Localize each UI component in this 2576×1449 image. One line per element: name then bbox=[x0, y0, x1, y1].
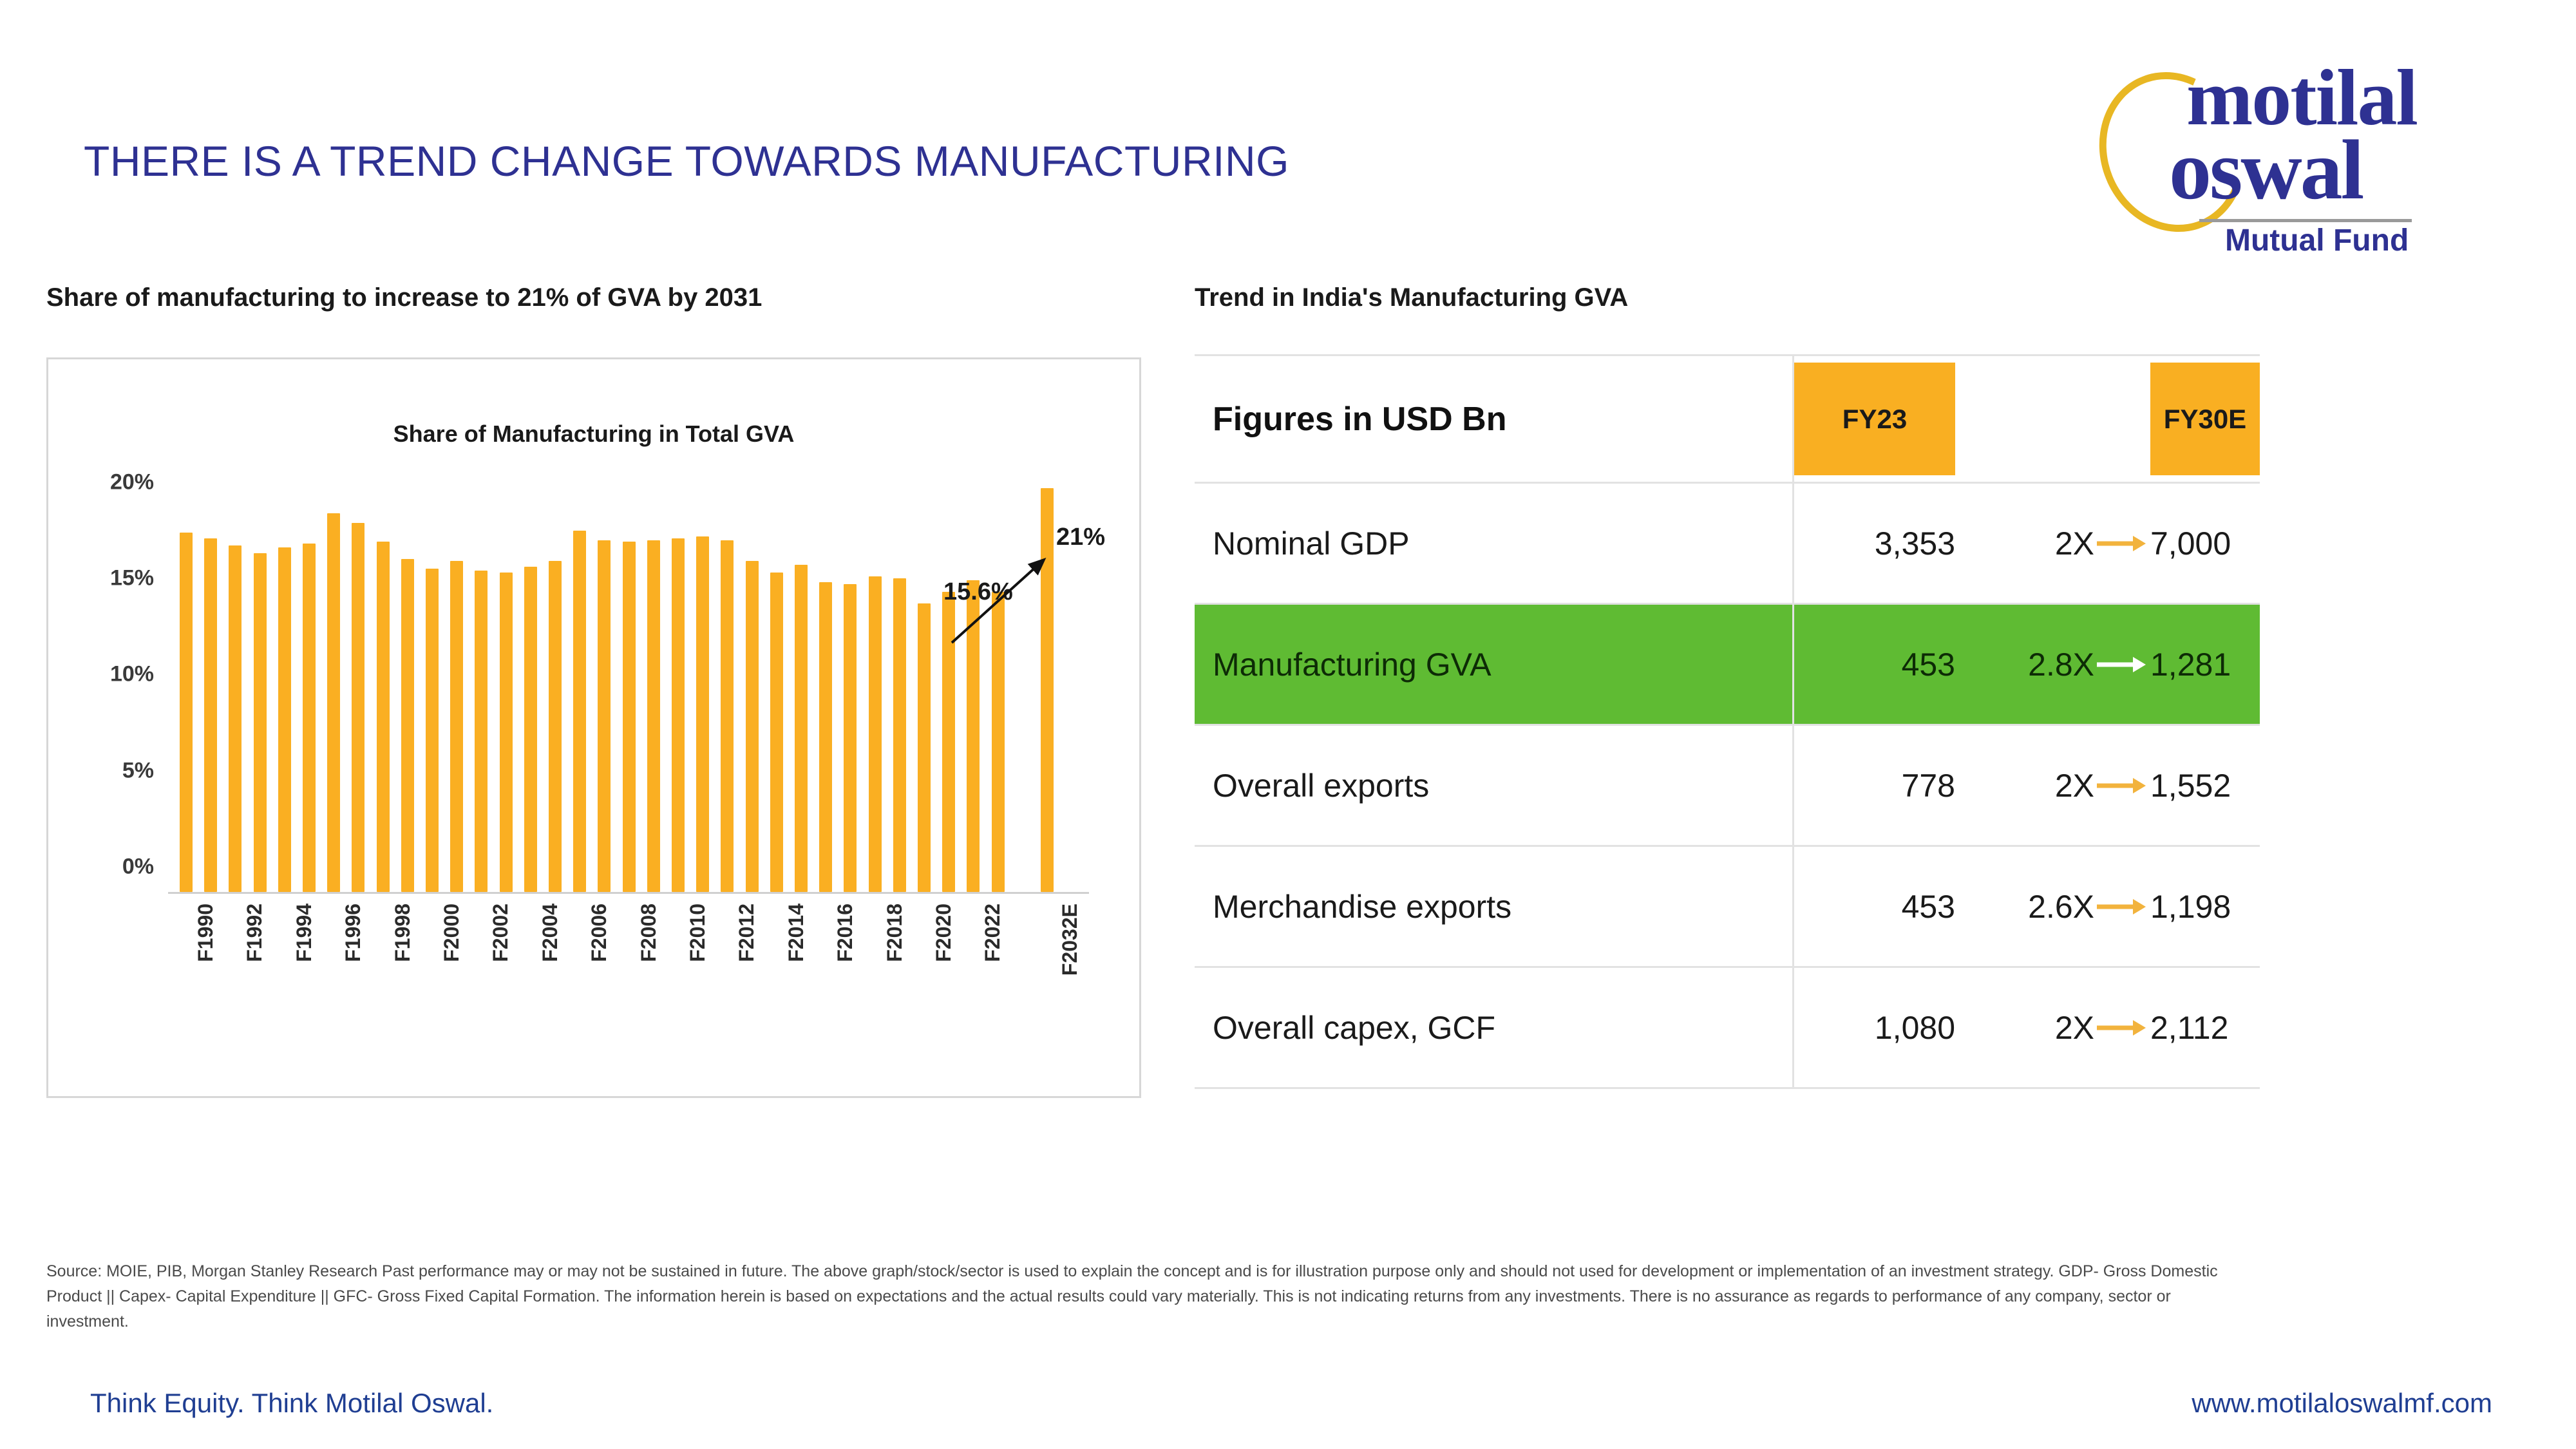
row-from-cell: 1,080 bbox=[1794, 967, 1960, 1088]
x-tick-F2016: F2016 bbox=[833, 904, 857, 962]
x-axis-ticks: F1990F1992F1994F1996F1998F2000F2002F2004… bbox=[168, 904, 1089, 1058]
table-row: Overall exports7782X1,552 bbox=[1195, 725, 2260, 846]
bar-F2023 bbox=[992, 592, 1005, 892]
row-mult-cell: 2.6X bbox=[1959, 846, 2094, 967]
row-from-cell: 453 bbox=[1794, 846, 1960, 967]
x-tick-F2002: F2002 bbox=[489, 904, 513, 962]
growth-arrow-icon bbox=[2097, 655, 2147, 674]
header-cell-multiplier bbox=[1959, 355, 2094, 483]
row-arrow-cell bbox=[2094, 604, 2149, 725]
x-tick-F2014: F2014 bbox=[784, 904, 808, 962]
y-tick-0: 0% bbox=[122, 855, 154, 880]
bar-F2022 bbox=[967, 580, 980, 892]
row-label-cell: Manufacturing GVA bbox=[1195, 604, 1794, 725]
bar-F2016 bbox=[819, 582, 832, 892]
row-to-cell: 1,552 bbox=[2149, 725, 2260, 846]
row-to-cell: 1,281 bbox=[2149, 604, 2260, 725]
row-from-cell: 778 bbox=[1794, 725, 1960, 846]
bar-F2019 bbox=[893, 578, 906, 892]
bar-F1992 bbox=[229, 545, 241, 892]
bar-F1998 bbox=[377, 542, 390, 892]
row-mult-cell: 2.8X bbox=[1959, 604, 2094, 725]
row-multiplier: 2.8X bbox=[2028, 647, 2094, 683]
bar-F2014 bbox=[770, 573, 783, 892]
row-from-value: 453 bbox=[1902, 889, 1955, 925]
x-tick-F1992: F1992 bbox=[243, 904, 267, 962]
bar-F1996 bbox=[327, 513, 340, 892]
bar-F2017 bbox=[844, 584, 857, 892]
y-tick-3: 15% bbox=[110, 566, 154, 591]
bar-F2013 bbox=[746, 561, 759, 892]
brand-logo: motilal oswal Mutual Fund bbox=[2087, 45, 2512, 258]
row-to-value: 1,281 bbox=[2150, 647, 2231, 683]
bar-F2001 bbox=[450, 561, 463, 892]
row-to-value: 2,112 bbox=[2150, 1010, 2228, 1046]
row-multiplier: 2X bbox=[2055, 768, 2094, 804]
footer-tagline: Think Equity. Think Motilal Oswal. bbox=[90, 1388, 493, 1419]
bar-F2007 bbox=[598, 540, 611, 893]
bar-F1997 bbox=[352, 523, 365, 892]
row-arrow-cell bbox=[2094, 725, 2149, 846]
bar-F2010 bbox=[672, 538, 685, 892]
row-from-cell: 3,353 bbox=[1794, 483, 1960, 604]
chart-bars bbox=[168, 469, 1089, 892]
row-label-cell: Nominal GDP bbox=[1195, 483, 1794, 604]
chart-plot-area: 0%5%10%15%20% bbox=[168, 469, 1089, 894]
manufacturing-share-chart: Share of Manufacturing in Total GVA 0%5%… bbox=[46, 357, 1141, 1098]
row-from-cell: 453 bbox=[1794, 604, 1960, 725]
x-tick-F2022: F2022 bbox=[981, 904, 1005, 962]
row-label: Overall capex, GCF bbox=[1213, 1010, 1495, 1046]
row-from-value: 778 bbox=[1902, 768, 1955, 804]
row-label: Merchandise exports bbox=[1213, 889, 1511, 925]
right-panel-heading: Trend in India's Manufacturing GVA bbox=[1195, 283, 1628, 312]
x-tick-F2020: F2020 bbox=[932, 904, 956, 962]
bar-F2002 bbox=[475, 571, 488, 892]
row-from-value: 3,353 bbox=[1875, 526, 1955, 562]
row-multiplier: 2.6X bbox=[2028, 889, 2094, 925]
logo-wordmark-line2: oswal bbox=[2169, 128, 2362, 213]
header-cell-fy23: FY23 bbox=[1794, 355, 1960, 483]
growth-arrow-icon bbox=[2097, 534, 2147, 553]
logo-divider bbox=[2199, 219, 2412, 222]
source-note: Source: MOIE, PIB, Morgan Stanley Resear… bbox=[46, 1259, 2236, 1334]
table-row: Overall capex, GCF1,0802X2,112 bbox=[1195, 967, 2260, 1088]
table-header-row: Figures in USD Bn FY23 FY30E bbox=[1195, 355, 2260, 483]
bar-F2000 bbox=[426, 569, 439, 892]
row-to-cell: 2,112 bbox=[2149, 967, 2260, 1088]
table-row: Merchandise exports4532.6X1,198 bbox=[1195, 846, 2260, 967]
x-tick-F2010: F2010 bbox=[686, 904, 710, 962]
page-title: THERE IS A TREND CHANGE TOWARDS MANUFACT… bbox=[84, 137, 1289, 185]
left-panel-heading: Share of manufacturing to increase to 21… bbox=[46, 283, 762, 312]
row-to-cell: 1,198 bbox=[2149, 846, 2260, 967]
chart-title: Share of Manufacturing in Total GVA bbox=[48, 421, 1139, 448]
bar-F2006 bbox=[573, 531, 586, 892]
row-to-cell: 7,000 bbox=[2149, 483, 2260, 604]
fy30e-chip: FY30E bbox=[2150, 363, 2260, 475]
row-label-cell: Overall capex, GCF bbox=[1195, 967, 1794, 1088]
row-multiplier: 2X bbox=[2055, 526, 2094, 562]
row-label-cell: Overall exports bbox=[1195, 725, 1794, 846]
x-tick-F2018: F2018 bbox=[883, 904, 907, 962]
gva-table-body: Figures in USD Bn FY23 FY30E Nominal GDP… bbox=[1195, 355, 2260, 1088]
table-row: Nominal GDP3,3532X7,000 bbox=[1195, 483, 2260, 604]
bar-F1990 bbox=[180, 533, 193, 892]
header-label-text: Figures in USD Bn bbox=[1213, 401, 1506, 438]
x-tick-F1998: F1998 bbox=[391, 904, 415, 962]
row-mult-cell: 2X bbox=[1959, 967, 2094, 1088]
row-label-cell: Merchandise exports bbox=[1195, 846, 1794, 967]
table-row: Manufacturing GVA4532.8X1,281 bbox=[1195, 604, 2260, 725]
y-tick-1: 5% bbox=[122, 758, 154, 783]
logo-subtitle: Mutual Fund bbox=[2225, 223, 2409, 258]
bar-F1994 bbox=[278, 547, 291, 892]
x-tick-F2006: F2006 bbox=[587, 904, 611, 962]
bar-F1993 bbox=[254, 553, 267, 892]
bar-F2003 bbox=[500, 573, 513, 892]
growth-arrow-icon bbox=[2097, 776, 2147, 795]
footer-url[interactable]: www.motilaloswalmf.com bbox=[2192, 1388, 2492, 1419]
bar-F2011 bbox=[696, 536, 709, 892]
x-tick-F2000: F2000 bbox=[440, 904, 464, 962]
row-label: Nominal GDP bbox=[1213, 526, 1410, 562]
row-mult-cell: 2X bbox=[1959, 725, 2094, 846]
row-label: Overall exports bbox=[1213, 768, 1429, 804]
x-axis-line bbox=[168, 892, 1089, 894]
row-to-value: 1,552 bbox=[2150, 768, 2231, 804]
gva-table: Figures in USD Bn FY23 FY30E Nominal GDP… bbox=[1195, 354, 2260, 1089]
bar-F2004 bbox=[524, 567, 537, 892]
x-tick-F2004: F2004 bbox=[538, 904, 562, 962]
header-cell-arrow bbox=[2094, 355, 2149, 483]
row-multiplier: 2X bbox=[2055, 1010, 2094, 1046]
row-arrow-cell bbox=[2094, 967, 2149, 1088]
row-from-value: 1,080 bbox=[1875, 1010, 1955, 1046]
growth-arrow-icon bbox=[2097, 1018, 2147, 1037]
bar-F2018 bbox=[869, 576, 882, 892]
bar-F2009 bbox=[647, 540, 660, 893]
bar-F1995 bbox=[303, 544, 316, 892]
annotation-15-6-percent: 15.6% bbox=[943, 578, 1013, 606]
row-to-value: 1,198 bbox=[2150, 889, 2231, 925]
bar-F2012 bbox=[721, 540, 734, 893]
row-arrow-cell bbox=[2094, 483, 2149, 604]
x-tick-F2012: F2012 bbox=[735, 904, 759, 962]
x-tick-F1994: F1994 bbox=[292, 904, 316, 962]
bar-F2020 bbox=[918, 603, 931, 892]
header-cell-fy30e: FY30E bbox=[2149, 355, 2260, 483]
bar-F2032E bbox=[1041, 488, 1054, 892]
row-to-value: 7,000 bbox=[2150, 526, 2231, 562]
row-from-value: 453 bbox=[1902, 647, 1955, 683]
y-tick-4: 20% bbox=[110, 469, 154, 495]
bar-F1999 bbox=[401, 559, 414, 892]
row-mult-cell: 2X bbox=[1959, 483, 2094, 604]
row-label: Manufacturing GVA bbox=[1213, 647, 1492, 683]
bar-F2021 bbox=[942, 592, 955, 892]
bar-F2005 bbox=[549, 561, 562, 892]
header-cell-label: Figures in USD Bn bbox=[1195, 355, 1794, 483]
x-tick-F1990: F1990 bbox=[194, 904, 218, 962]
fy23-chip: FY23 bbox=[1794, 363, 1955, 475]
x-tick-F1996: F1996 bbox=[341, 904, 365, 962]
y-tick-2: 10% bbox=[110, 662, 154, 687]
bar-F2015 bbox=[795, 565, 808, 892]
annotation-21-percent: 21% bbox=[1056, 524, 1105, 551]
row-arrow-cell bbox=[2094, 846, 2149, 967]
x-tick-F2008: F2008 bbox=[637, 904, 661, 962]
bar-F1991 bbox=[204, 538, 217, 892]
x-tick-F2032E: F2032E bbox=[1058, 904, 1082, 976]
bar-F2008 bbox=[623, 542, 636, 892]
growth-arrow-icon bbox=[2097, 897, 2147, 916]
